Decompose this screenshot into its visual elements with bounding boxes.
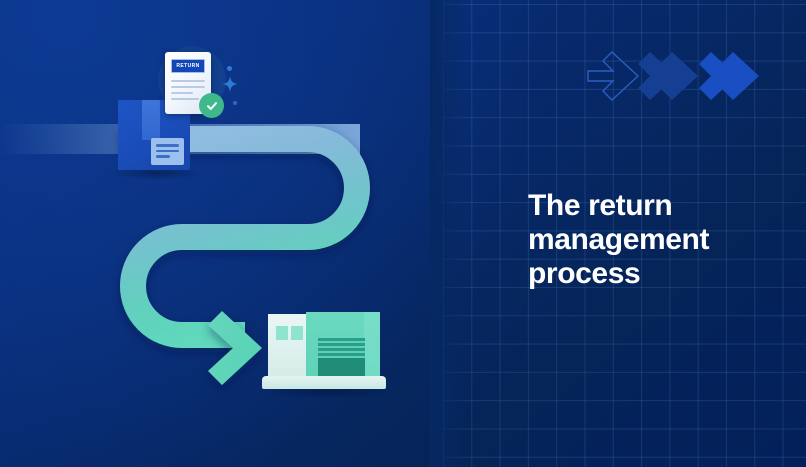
approved-check-badge — [199, 93, 224, 118]
document-banner: RETURN — [171, 59, 205, 73]
parcel-shipping-label — [151, 138, 184, 165]
warehouse-window — [276, 326, 288, 340]
sparkle-dot-small-icon — [233, 101, 237, 105]
page-title-line-3: process — [528, 257, 768, 291]
parcel-tape — [142, 100, 160, 140]
deco-arrow-bright — [699, 52, 759, 100]
page-title: The return management process — [528, 189, 768, 291]
warehouse-building — [268, 312, 380, 392]
deco-arrow-medium — [638, 52, 698, 100]
illustration-canvas: RETURN The return management process — [0, 0, 806, 467]
warehouse-base-platform — [262, 376, 386, 389]
sparkle-star-icon — [222, 76, 238, 92]
sparkle-dot-icon — [227, 66, 232, 71]
document-banner-text: RETURN — [176, 64, 199, 69]
document-text-lines — [171, 80, 205, 100]
page-title-line-1: The return — [528, 189, 768, 223]
check-icon — [205, 99, 219, 113]
warehouse-shutter-door — [318, 338, 365, 378]
warehouse-facade-highlight — [364, 312, 380, 378]
deco-arrow-outline — [588, 52, 638, 100]
warehouse-door-panel — [318, 358, 365, 378]
warehouse-window — [291, 326, 303, 340]
warehouse-left-facade — [268, 314, 306, 378]
page-title-line-2: management — [528, 223, 768, 257]
